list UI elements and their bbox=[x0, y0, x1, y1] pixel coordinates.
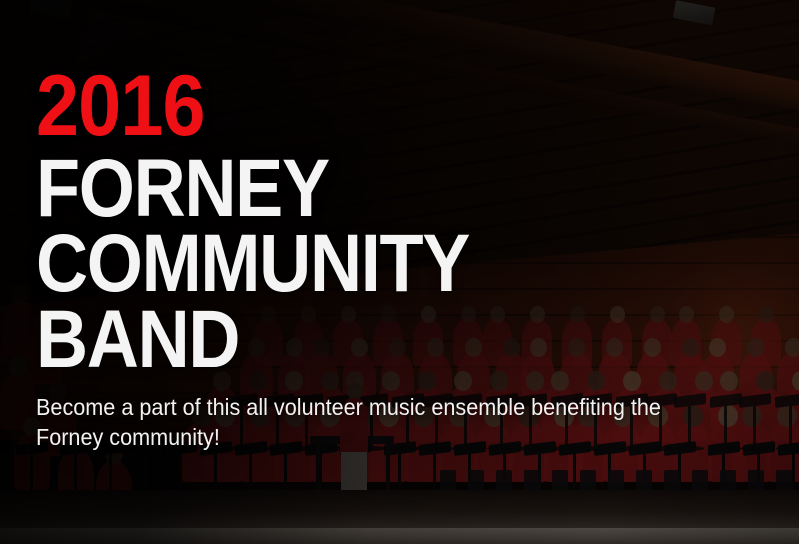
hero-year: 2016 bbox=[36, 72, 702, 141]
hero-subtitle: Become a part of this all volunteer musi… bbox=[36, 393, 732, 453]
hero-banner: 2016 FORNEY COMMUNITY BAND Become a part… bbox=[0, 0, 799, 544]
title-line-2: COMMUNITY bbox=[36, 226, 687, 301]
title-line-1: FORNEY bbox=[36, 151, 687, 226]
title-line-3: BAND bbox=[36, 302, 687, 377]
page-title: FORNEY COMMUNITY BAND bbox=[36, 151, 687, 377]
hero-content: 2016 FORNEY COMMUNITY BAND Become a part… bbox=[36, 72, 776, 453]
